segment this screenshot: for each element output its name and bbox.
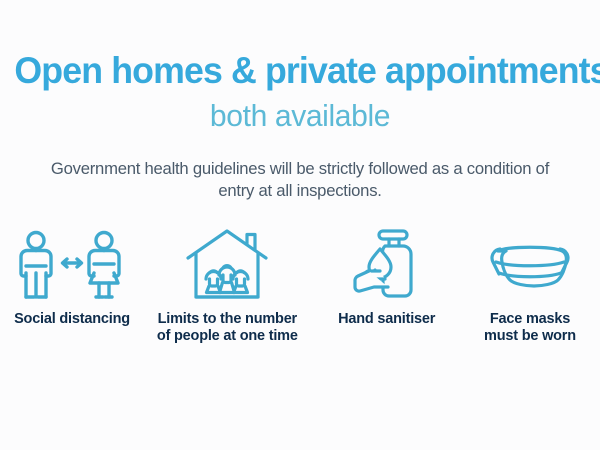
page-title: Open homes & private appointments [11,52,590,90]
caption-line: must be worn [484,328,576,345]
house-occupancy-limit-icon [185,229,269,301]
caption-line: Social distancing [14,311,130,328]
body-copy: Government health guidelines will be str… [26,158,575,203]
measure-caption: Social distancing [14,311,130,328]
measure-caption: Face masks must be worn [484,311,576,345]
measure-face-mask: Face masks must be worn [466,229,594,345]
hand-sanitiser-icon [349,229,425,301]
caption-line: Limits to the number [157,311,298,328]
safety-measures-row: Social distancing [0,229,600,345]
face-mask-icon [484,229,576,301]
measure-caption: Hand sanitiser [338,311,435,328]
caption-line: Hand sanitiser [338,311,435,328]
page-subtitle: both available [9,99,591,133]
caption-line: Face masks [484,311,576,328]
measure-hand-sanitiser: Hand sanitiser [317,229,457,328]
measure-caption: Limits to the number of people at one ti… [157,311,298,345]
headline-block: Open homes & private appointments both a… [0,0,600,134]
caption-line: of people at one time [157,328,298,345]
social-distancing-icon [13,229,131,301]
covid-safety-poster: Open homes & private appointments both a… [0,0,600,450]
measure-occupancy-limit: Limits to the number of people at one ti… [147,229,307,345]
measure-social-distancing: Social distancing [6,229,138,328]
body-copy-line-1: Government health guidelines will be str… [26,158,575,181]
body-copy-line-2: entry at all inspections. [26,180,575,203]
